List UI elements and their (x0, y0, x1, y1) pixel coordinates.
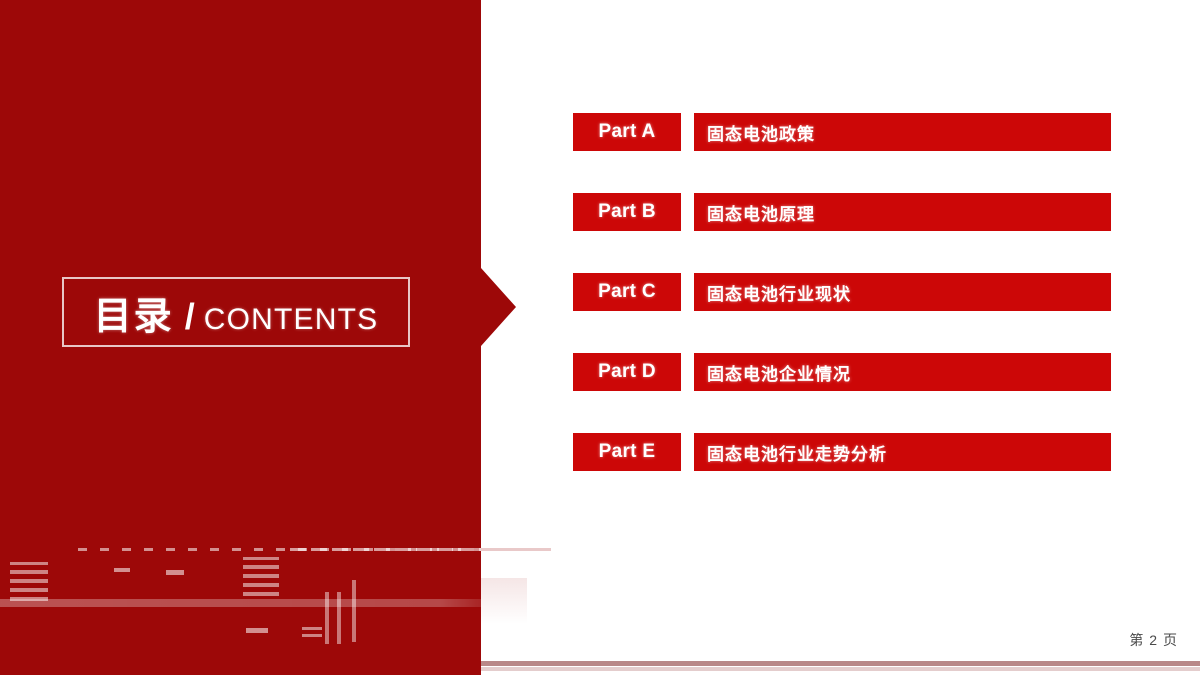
section-label: 固态电池企业情况 (707, 360, 851, 385)
part-chip-a[interactable]: Part A (573, 113, 681, 151)
title-english: CONTENTS (204, 303, 379, 337)
section-label: 固态电池行业走势分析 (707, 440, 887, 465)
part-chip-label: Part D (598, 361, 656, 383)
section-bar-c[interactable]: 固态电池行业现状 (694, 273, 1111, 311)
section-bar-a[interactable]: 固态电池政策 (694, 113, 1111, 151)
section-label: 固态电池原理 (707, 200, 815, 225)
page-number: 第 2 页 (1129, 630, 1178, 650)
section-bar-e[interactable]: 固态电池行业走势分析 (694, 433, 1111, 471)
decor-panel-bleed-soft (481, 578, 527, 624)
part-chip-label: Part A (598, 121, 655, 143)
title-separator: / (185, 296, 195, 338)
list-item[interactable]: Part E 固态电池行业走势分析 (573, 433, 1113, 471)
part-chip-label: Part B (598, 201, 656, 223)
decor-panel-bleed (481, 548, 551, 551)
bottom-accent-line (481, 661, 1200, 666)
section-bar-d[interactable]: 固态电池企业情况 (694, 353, 1111, 391)
section-label: 固态电池行业现状 (707, 280, 851, 305)
list-item[interactable]: Part D 固态电池企业情况 (573, 353, 1113, 391)
part-chip-label: Part E (599, 441, 656, 463)
list-item[interactable]: Part C 固态电池行业现状 (573, 273, 1113, 311)
slide-canvas: 目录 / CONTENTS Part A 固态电池政策 Part B 固态电池原… (0, 0, 1200, 675)
section-bar-b[interactable]: 固态电池原理 (694, 193, 1111, 231)
part-chip-b[interactable]: Part B (573, 193, 681, 231)
contents-title: 目录 / CONTENTS (94, 285, 379, 340)
contents-list: Part A 固态电池政策 Part B 固态电池原理 Part C 固态电池行… (573, 113, 1113, 513)
part-chip-c[interactable]: Part C (573, 273, 681, 311)
contents-title-box: 目录 / CONTENTS (62, 277, 410, 347)
section-label: 固态电池政策 (707, 120, 815, 145)
part-chip-label: Part C (598, 281, 656, 303)
list-item[interactable]: Part A 固态电池政策 (573, 113, 1113, 151)
list-item[interactable]: Part B 固态电池原理 (573, 193, 1113, 231)
title-chinese: 目录 (94, 285, 174, 340)
part-chip-d[interactable]: Part D (573, 353, 681, 391)
panel-arrow-notch (481, 268, 516, 346)
bottom-accent-line-soft (481, 667, 1200, 671)
part-chip-e[interactable]: Part E (573, 433, 681, 471)
